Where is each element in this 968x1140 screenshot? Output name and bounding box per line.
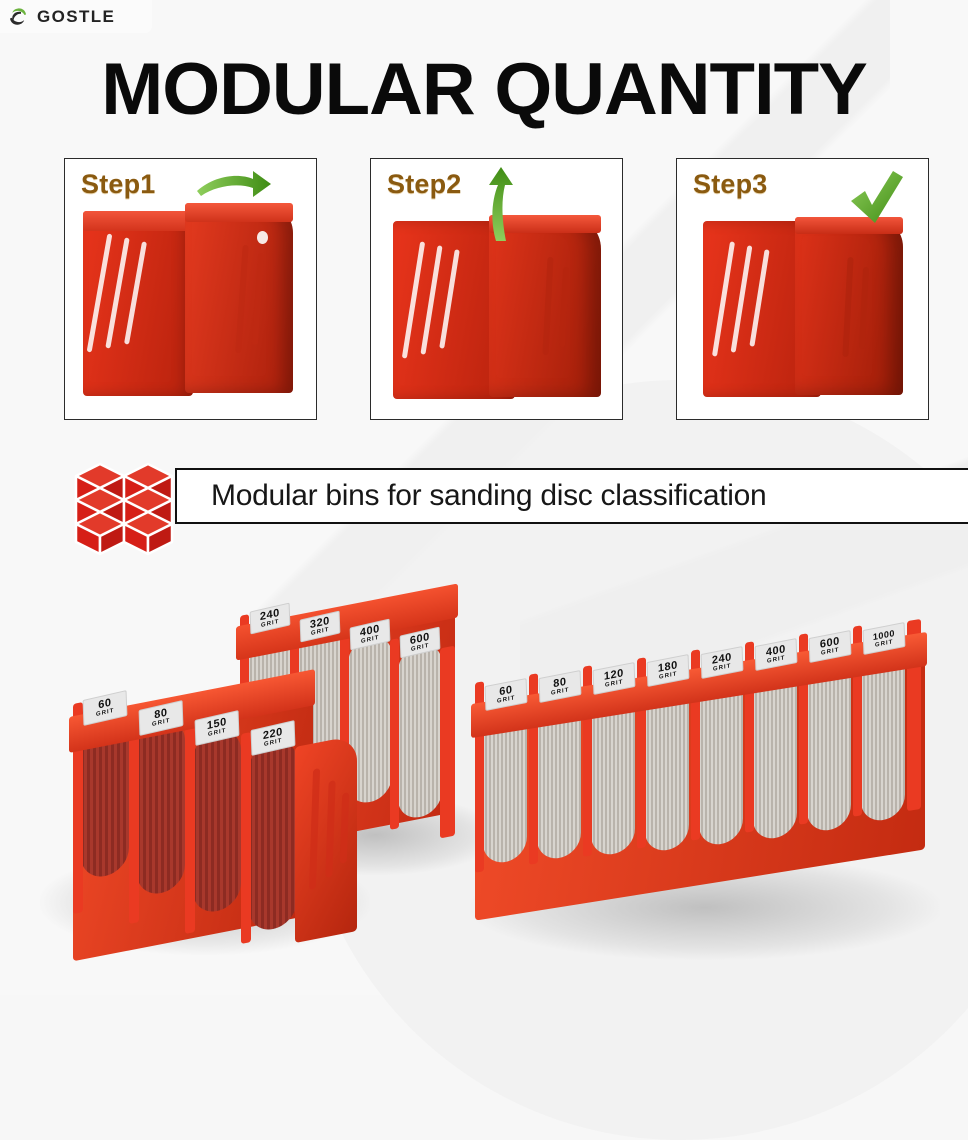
caption-text: Modular bins for sanding disc classifica… — [211, 479, 766, 513]
product-photo: 240 GRIT 320 GRIT 400 GRIT 600 GRIT — [0, 565, 968, 995]
step-label-3: Step3 — [693, 169, 768, 200]
page-title: MODULAR QUANTITY — [0, 52, 968, 128]
infographic-canvas: GOSTLE MODULAR QUANTITY Step1 — [0, 0, 968, 995]
step3-bin-assembly — [703, 217, 903, 397]
swirl-logo-icon — [6, 5, 30, 29]
brand-logo: GOSTLE — [0, 0, 152, 33]
step1-bin-left — [83, 211, 193, 396]
disc-stack — [137, 716, 185, 897]
brand-name: GOSTLE — [37, 7, 115, 27]
green-check-icon — [845, 167, 907, 234]
step-label-2: Step2 — [387, 169, 462, 200]
step-panel-3: Step3 — [676, 158, 929, 420]
step-panel-1: Step1 — [64, 158, 317, 420]
green-up-arrow-icon — [484, 165, 518, 248]
red-cubes-icon — [62, 450, 184, 560]
step1-bin-right — [185, 203, 293, 393]
eight-bin-organizer: 60 GRIT 80 GRIT 120 GRIT 180 GRIT 240 GR… — [455, 620, 955, 950]
caption-row: Modular bins for sanding disc classifica… — [62, 450, 912, 560]
step-label-1: Step1 — [81, 169, 156, 200]
caption-box: Modular bins for sanding disc classifica… — [175, 468, 968, 524]
disc-stack — [249, 736, 297, 933]
green-right-arrow-icon — [195, 169, 273, 208]
step-panel-2: Step2 — [370, 158, 623, 420]
disc-stack — [398, 641, 442, 822]
steps-row: Step1 — [64, 158, 914, 423]
four-bin-organizer-front: 60 GRIT 80 GRIT 150 GRIT 220 GRIT — [55, 685, 355, 975]
disc-stack — [193, 726, 241, 915]
